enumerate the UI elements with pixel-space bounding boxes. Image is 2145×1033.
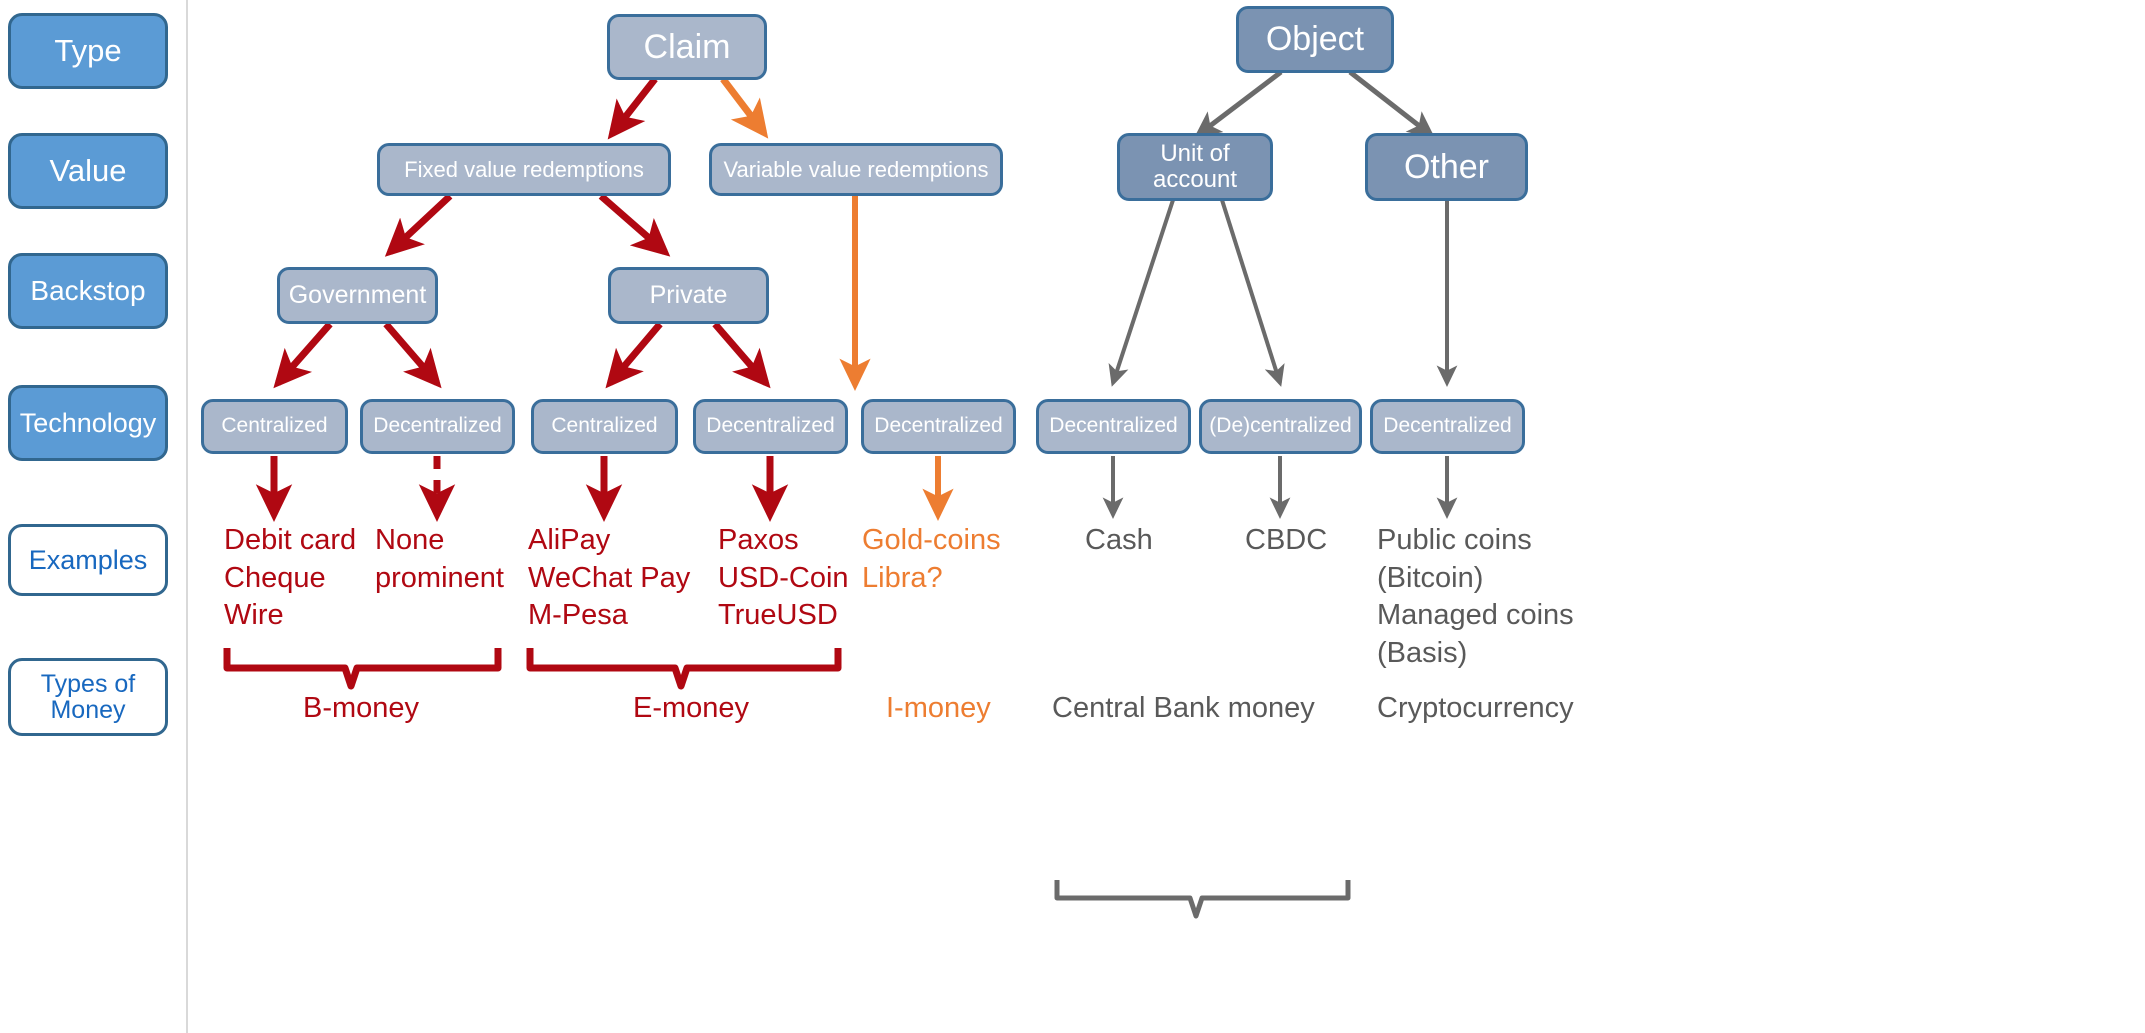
node-object[interactable]: Object: [1236, 6, 1394, 73]
examples-i-money: Gold-coins Libra?: [862, 522, 1001, 597]
node-tech-priv-centralized[interactable]: Centralized: [531, 399, 678, 454]
money-taxonomy-diagram: Type Value Backstop Technology Examples …: [0, 0, 2145, 1033]
node-label: Variable value redemptions: [724, 158, 989, 182]
node-label: Decentralized: [706, 415, 834, 438]
node-label: Fixed value redemptions: [404, 158, 644, 182]
rail-item-label: Technology: [20, 409, 157, 438]
node-tech-other-decentralized[interactable]: Decentralized: [1370, 399, 1525, 454]
rail-item-backstop[interactable]: Backstop: [8, 253, 168, 329]
rail-item-type[interactable]: Type: [8, 13, 168, 89]
node-tech-uoa-decentralized-2[interactable]: (De)centralized: [1199, 399, 1362, 454]
node-label: Other: [1404, 149, 1489, 186]
node-variable-value-redemptions[interactable]: Variable value redemptions: [709, 143, 1003, 196]
node-fixed-value-redemptions[interactable]: Fixed value redemptions: [377, 143, 671, 196]
types-of-money-i-money: I-money: [886, 690, 991, 728]
examples-cash: Cash: [1085, 522, 1153, 560]
rail-item-examples[interactable]: Examples: [8, 524, 168, 596]
connector-layer: [0, 0, 2145, 1033]
rail-item-label: Types of Money: [11, 671, 165, 724]
rail-item-label: Type: [54, 35, 121, 68]
rail-item-technology[interactable]: Technology: [8, 385, 168, 461]
node-label: Private: [650, 282, 728, 309]
examples-cryptocurrency: Public coins (Bitcoin) Managed coins (Ba…: [1377, 522, 1574, 673]
node-label: Decentralized: [1383, 415, 1511, 438]
types-of-money-b-money: B-money: [303, 690, 419, 728]
examples-b-money-centralized: Debit card Cheque Wire: [224, 522, 356, 635]
examples-cbdc: CBDC: [1245, 522, 1327, 560]
rail-item-label: Value: [50, 155, 127, 188]
node-label: Centralized: [551, 415, 657, 438]
rail-item-value[interactable]: Value: [8, 133, 168, 209]
rail-item-label: Backstop: [30, 276, 145, 306]
node-label: Object: [1266, 21, 1364, 58]
rail-divider: [186, 0, 188, 1033]
rail-item-types-of-money[interactable]: Types of Money: [8, 658, 168, 736]
node-government[interactable]: Government: [277, 267, 438, 324]
examples-e-money-decentralized: Paxos USD-Coin TrueUSD: [718, 522, 849, 635]
rail-item-label: Examples: [29, 546, 148, 575]
types-of-money-cryptocurrency: Cryptocurrency: [1377, 690, 1574, 728]
node-label: Government: [289, 282, 427, 309]
node-unit-of-account[interactable]: Unit of account: [1117, 133, 1273, 201]
node-label: Centralized: [221, 415, 327, 438]
node-label: (De)centralized: [1209, 415, 1351, 438]
node-tech-variable-decentralized[interactable]: Decentralized: [861, 399, 1016, 454]
examples-e-money-centralized: AliPay WeChat Pay M-Pesa: [528, 522, 690, 635]
node-other[interactable]: Other: [1365, 133, 1528, 201]
node-claim[interactable]: Claim: [607, 14, 767, 80]
node-label: Decentralized: [874, 415, 1002, 438]
node-tech-gov-centralized[interactable]: Centralized: [201, 399, 348, 454]
node-tech-uoa-decentralized[interactable]: Decentralized: [1036, 399, 1191, 454]
node-label: Decentralized: [1049, 415, 1177, 438]
node-label: Claim: [644, 29, 731, 66]
node-label: Decentralized: [373, 415, 501, 438]
types-of-money-e-money: E-money: [633, 690, 749, 728]
node-tech-gov-decentralized[interactable]: Decentralized: [360, 399, 515, 454]
node-private[interactable]: Private: [608, 267, 769, 324]
node-tech-priv-decentralized[interactable]: Decentralized: [693, 399, 848, 454]
types-of-money-central-bank-money: Central Bank money: [1052, 690, 1315, 728]
examples-b-money-decentralized: None prominent: [375, 522, 504, 597]
node-label: Unit of account: [1153, 141, 1237, 193]
